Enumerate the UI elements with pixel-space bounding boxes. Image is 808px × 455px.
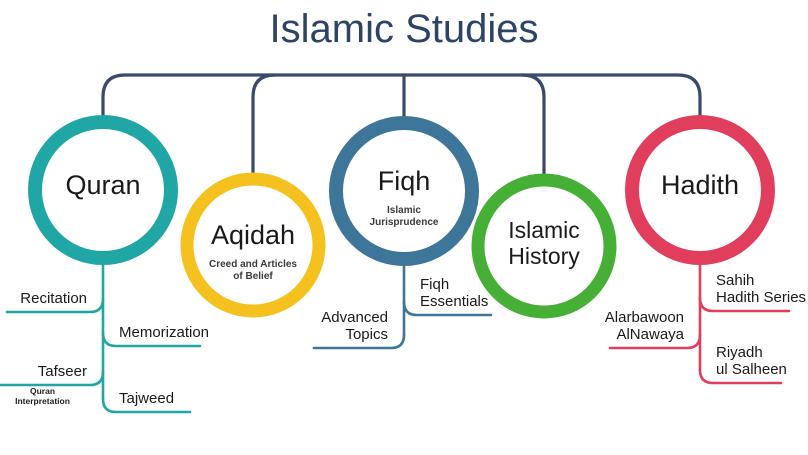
node-label-quran: Quran [13, 171, 193, 199]
branch-label-quran-2: Tafseer [0, 364, 87, 381]
branch-label-hadith-0: SahihHadith Series [716, 273, 808, 307]
branch-label-quran-3: Tajweed [119, 391, 269, 408]
node-label-aqidah: Aqidah [163, 221, 343, 249]
branch-label-quran-0: Recitation [0, 291, 87, 308]
branch-label-fiqh-0: FiqhEssentials [420, 277, 570, 311]
node-subtitle-aqidah: Creed and Articlesof Belief [173, 259, 333, 282]
branch-label-fiqh-1: AdvancedTopics [238, 310, 388, 344]
diagram-canvas: Islamic Studies QuranAqidahCreed and Art… [0, 0, 808, 455]
node-label-hadith: Hadith [610, 171, 790, 199]
branch-label-hadith-2: Riyadhul Salheen [716, 345, 808, 379]
branch-label-hadith-1: AlarbawoonAlNawaya [534, 310, 684, 344]
node-label-history: IslamicHistory [454, 218, 634, 270]
branch-subtitle-quran-2: QuranInterpretation [0, 387, 103, 407]
node-label-fiqh: Fiqh [314, 167, 494, 195]
